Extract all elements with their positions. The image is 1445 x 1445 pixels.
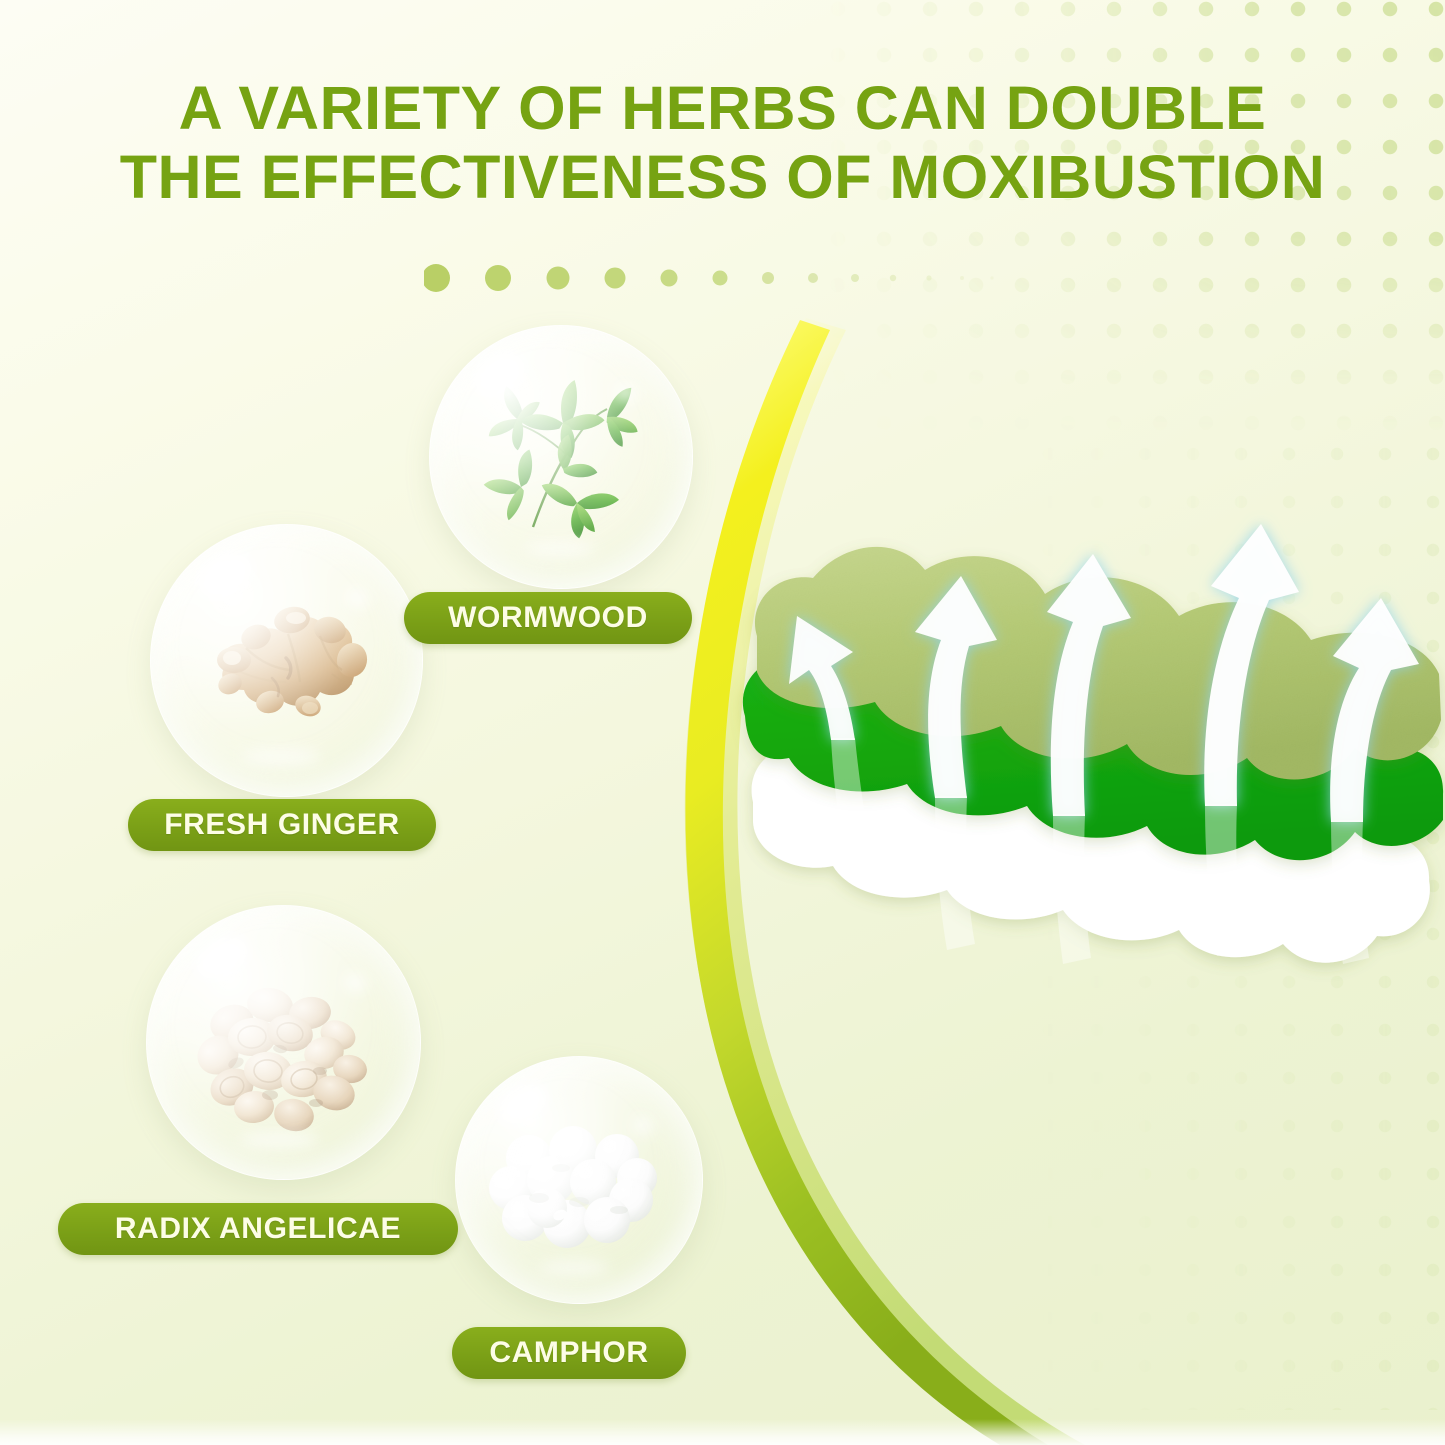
ingredient-bubble-radix-angelicae[interactable] (146, 905, 421, 1180)
ingredient-bubble-fresh-ginger[interactable] (150, 524, 423, 797)
polka-dot-field-top-right (815, 0, 1445, 456)
ingredient-label-radix-angelicae[interactable]: RADIX ANGELICAE (58, 1203, 458, 1255)
ingredient-label-fresh-ginger[interactable]: FRESH GINGER (128, 799, 436, 851)
decorative-dot-row (424, 258, 1024, 298)
bubble-highlight-base (539, 1260, 609, 1276)
ingredient-label-wormwood[interactable]: WORMWOOD (404, 592, 692, 644)
bubble-highlight-base (240, 1131, 318, 1149)
moxibustion-patch-cutaway (735, 520, 1445, 1100)
bubble-highlight-base (242, 748, 320, 766)
infographic-canvas: A VARIETY OF HERBS CAN DOUBLE THE EFFECT… (0, 0, 1445, 1445)
ingredient-label-camphor[interactable]: CAMPHOR (452, 1327, 686, 1379)
bubble-highlight-base (525, 541, 595, 557)
page-title: A VARIETY OF HERBS CAN DOUBLE THE EFFECT… (0, 74, 1445, 212)
bottom-edge-fade (0, 1419, 1445, 1445)
ingredient-bubble-camphor[interactable] (455, 1056, 703, 1304)
ingredient-bubble-wormwood[interactable] (429, 325, 693, 589)
